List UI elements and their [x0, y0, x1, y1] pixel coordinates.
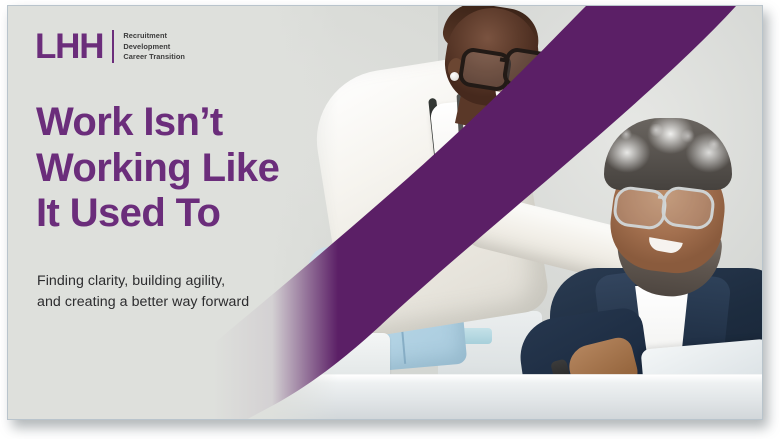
headline-line-1: Work Isn’t [36, 100, 336, 146]
woman-blazer-button [462, 154, 469, 161]
subhead-line-2: and creating a better way forward [37, 292, 337, 313]
marketing-slide: LHH Recruitment Development Career Trans… [7, 5, 763, 420]
woman-pearl-earring [450, 72, 459, 81]
tagline-line-development: Development [123, 42, 185, 52]
tagline-line-recruitment: Recruitment [123, 31, 185, 41]
page-subtitle: Finding clarity, building agility, and c… [37, 271, 337, 312]
headline-line-2: Working Like [36, 146, 336, 192]
lhh-logo: LHH Recruitment Development Career Trans… [35, 29, 185, 64]
page-title: Work Isn’t Working Like It Used To [36, 100, 336, 237]
lhh-logo-divider [112, 30, 114, 63]
man-grey-hair [604, 118, 732, 190]
lhh-logo-tagline: Recruitment Development Career Transitio… [123, 31, 185, 62]
woman-eyeglass-right [501, 46, 556, 92]
tagline-line-career-transition: Career Transition [123, 52, 185, 62]
man-eyeglass-right [660, 185, 716, 231]
woman-blazer-button [462, 174, 469, 181]
screenshot-root: LHH Recruitment Development Career Trans… [0, 0, 780, 439]
man-eyeglass-left [612, 185, 668, 231]
subhead-line-1: Finding clarity, building agility, [37, 271, 337, 292]
headline-line-3: It Used To [36, 191, 336, 237]
lhh-logo-wordmark: LHH [35, 29, 103, 64]
woman-blazer-button [462, 194, 469, 201]
